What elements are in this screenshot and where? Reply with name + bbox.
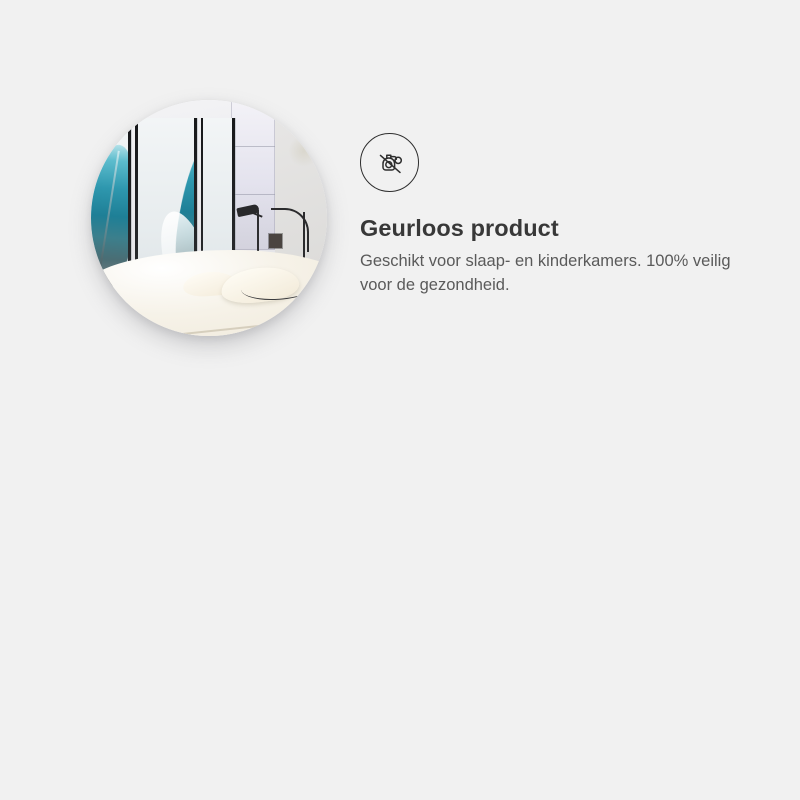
feature-block-geurloos-product: Geurloos product Geschikt voor slaap- en… [0,0,800,400]
product-feature-page: Geurloos product Geschikt voor slaap- en… [0,0,800,800]
bedroom-feather-canvas-photo [91,100,327,336]
feature-block-solide-constructie: Solide constructie Vervaardigd uit de ho… [0,400,800,800]
feature-image-wrapper [91,100,327,336]
feature-title: Geurloos product [360,214,750,243]
no-fragrance-icon [360,133,419,192]
feature-content: Geurloos product Geschikt voor slaap- en… [360,133,750,298]
feature-description: Geschikt voor slaap- en kinderkamers. 10… [360,250,750,298]
